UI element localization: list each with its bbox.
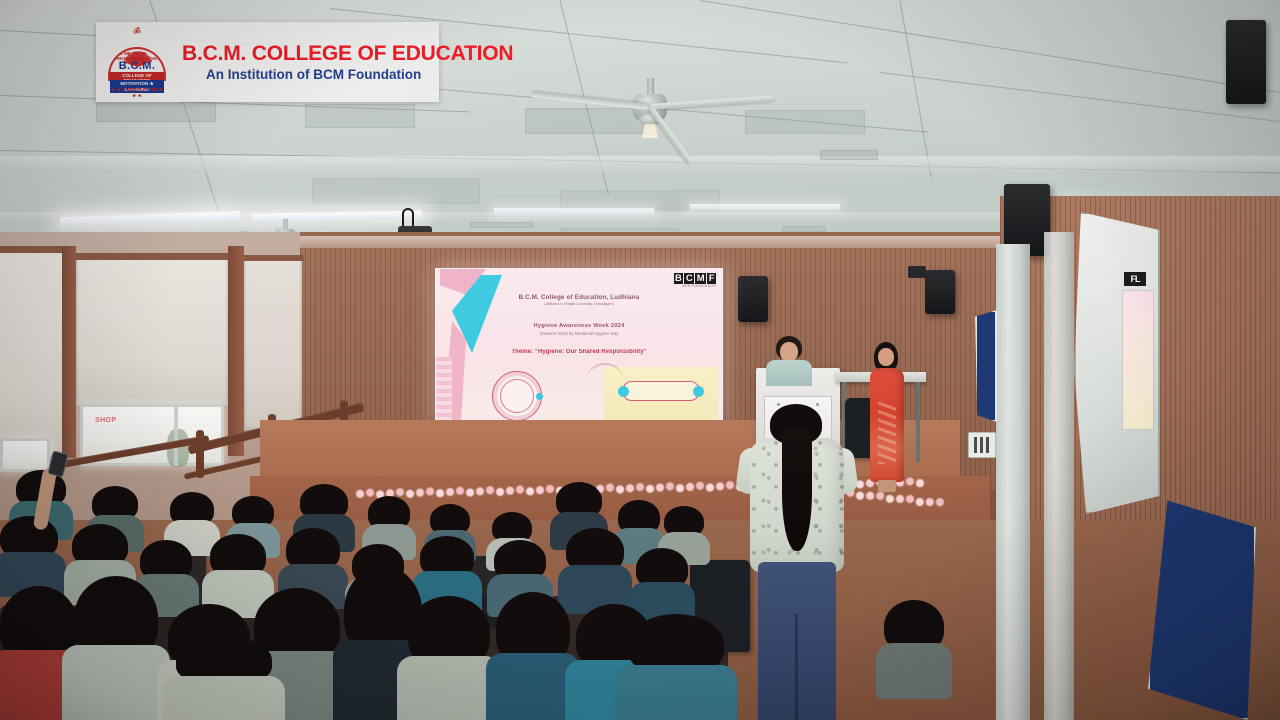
- speaker-at-podium: [762, 336, 818, 388]
- wall-speaker: [925, 270, 955, 314]
- bcmf-letter-f: F: [707, 273, 716, 284]
- audience-member: [496, 592, 570, 720]
- photo-scene: ॐ LEAD ME FROM DARKNESS TO LIGHT B.C.M.: [0, 0, 1280, 720]
- wall-camera-icon: [908, 266, 926, 278]
- wall-post: [62, 246, 76, 458]
- window-roller-blind[interactable]: [244, 260, 302, 430]
- audience-member: [74, 576, 158, 720]
- college-logo-banner: ॐ LEAD ME FROM DARKNESS TO LIGHT B.C.M.: [96, 22, 439, 102]
- pillar: [996, 244, 1030, 720]
- jeans: [758, 562, 836, 720]
- wall-post: [228, 246, 244, 456]
- wall-poster: [1122, 290, 1154, 430]
- bcmf-logo: B C M F: [674, 273, 716, 284]
- poster-label-fl: FL: [1124, 272, 1146, 286]
- slide-deco-strip: [436, 357, 452, 426]
- projector-screen: B C M F BCM FOUNDATION B.C.M. College of…: [435, 268, 723, 426]
- bcmf-letter-b: B: [674, 273, 684, 284]
- window: [0, 438, 50, 472]
- fluorescent-light: [494, 208, 654, 215]
- slide-affiliation-line: (Affiliated to Panjab University, Chandi…: [436, 302, 722, 306]
- bcmf-letter-m: M: [695, 273, 706, 284]
- slide-event-line: Hygiene Awareness Week 2024: [436, 323, 722, 329]
- ponytail: [782, 426, 812, 551]
- slide-emblem-left: [492, 371, 542, 421]
- audience-member: [628, 614, 724, 720]
- table-leg: [916, 382, 920, 462]
- ceiling-fan: [620, 78, 680, 148]
- wall-switch-plate[interactable]: [968, 432, 996, 458]
- pillar: [1044, 232, 1074, 720]
- audience-member: [566, 528, 624, 606]
- slide-swoosh: [586, 363, 624, 381]
- seal-initials: B.C.M.: [102, 60, 172, 72]
- om-symbol-icon: ॐ: [102, 27, 172, 36]
- presentation-slide: B C M F BCM FOUNDATION B.C.M. College of…: [436, 269, 722, 425]
- window-outside-signage: SHOP: [95, 417, 116, 424]
- wall-speaker: [738, 276, 768, 322]
- notice-board: [975, 310, 997, 422]
- wall-speaker: [1226, 20, 1266, 104]
- bcmf-letter-c: C: [684, 273, 694, 284]
- slide-dates-line: (Session 2024) by Menstrual Hygiene Day: [436, 331, 722, 336]
- audience-member: [0, 516, 58, 590]
- banner-title: B.C.M. COLLEGE OF EDUCATION: [182, 43, 513, 64]
- woman-in-red-attire: [866, 342, 910, 498]
- wall-trim: [300, 236, 1000, 248]
- banner-subtitle: An Institution of BCM Foundation: [182, 68, 513, 82]
- audience-member: [176, 636, 272, 720]
- audience-member: [884, 600, 944, 690]
- slide-dot-cyan: [536, 393, 543, 400]
- seal-line-3: ★ ★ ★ DEDICATION ★ ★ ★: [110, 87, 164, 99]
- bcmf-logo-subtext: BCM FOUNDATION: [683, 284, 716, 288]
- college-seal-icon: ॐ LEAD ME FROM DARKNESS TO LIGHT B.C.M.: [102, 27, 172, 97]
- slide-emblem-right: [622, 381, 700, 401]
- audience-member: [408, 596, 490, 720]
- fluorescent-light: [690, 204, 840, 210]
- standing-woman-foreground: [742, 404, 852, 720]
- slide-college-line: B.C.M. College of Education, Ludhiana: [436, 294, 722, 301]
- window-roller-blind[interactable]: [76, 258, 228, 406]
- slide-theme-line: Theme: "Hygiene: Our Shared Responsibili…: [436, 349, 722, 355]
